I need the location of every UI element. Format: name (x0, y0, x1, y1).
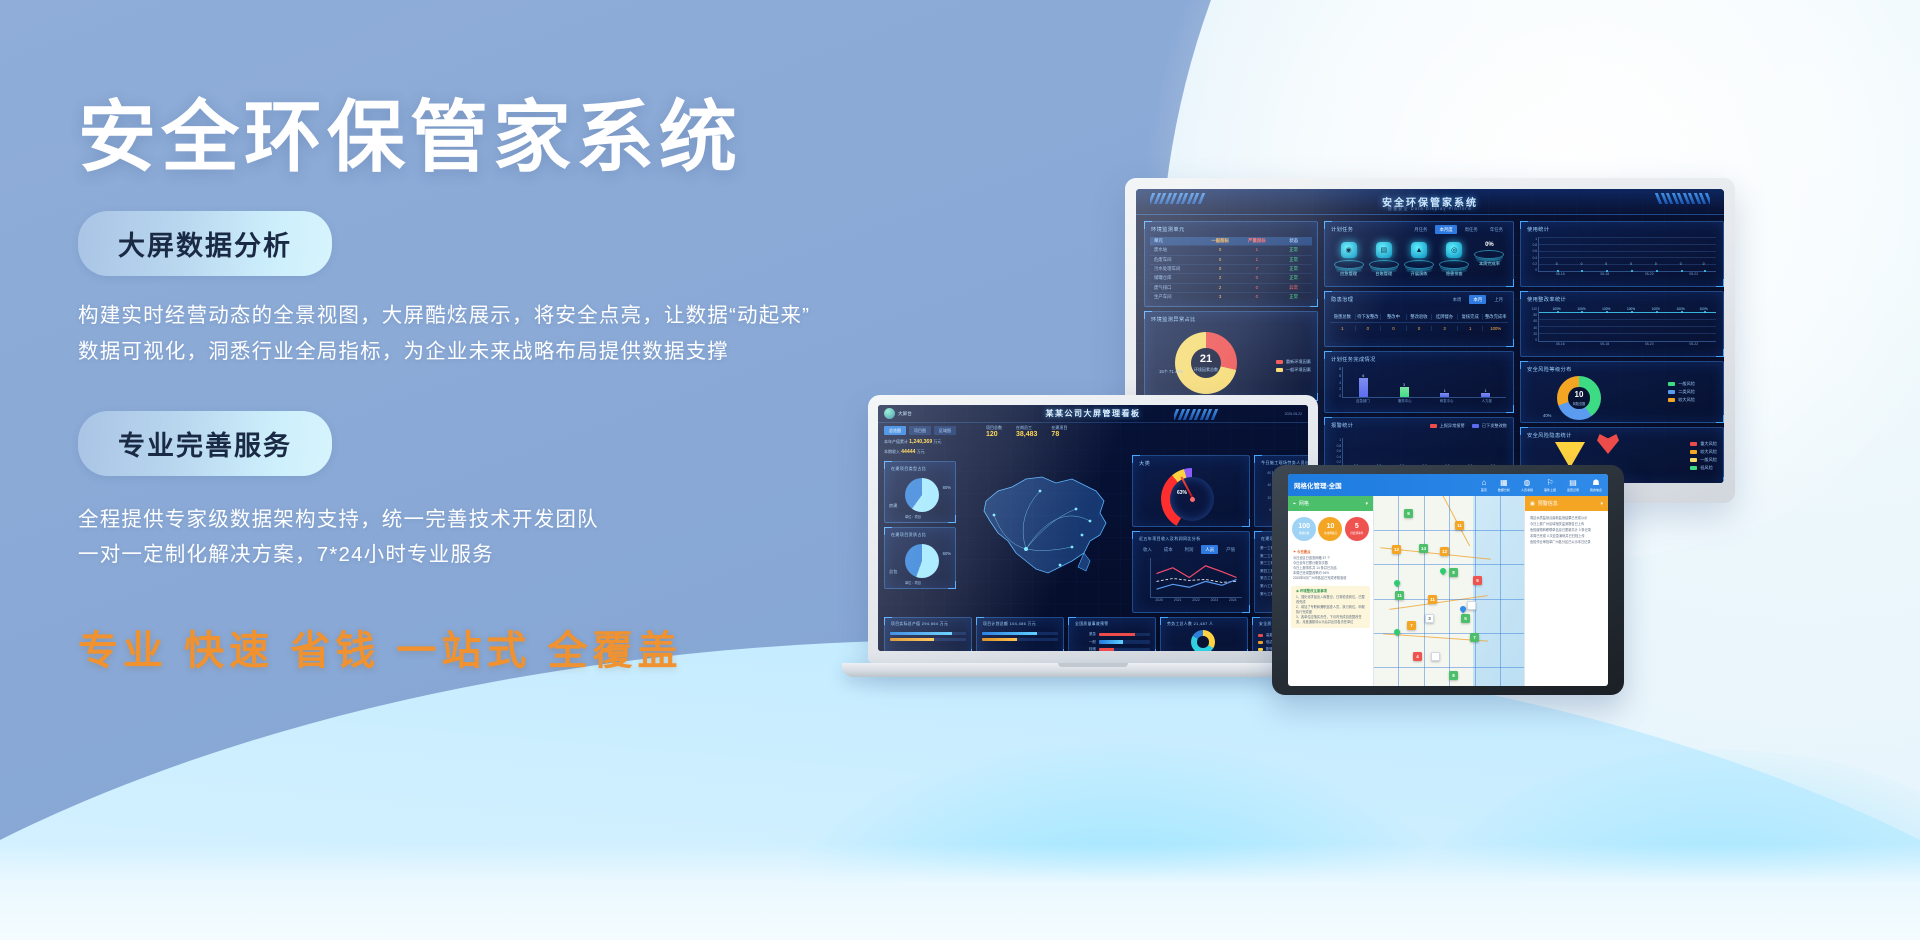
tablet-app-body: ⌖ 网格 ▾ 100 网格总数 10 在线网格员 (1288, 496, 1608, 686)
china-map (964, 457, 1128, 591)
project-qualification-pie-chart (905, 544, 939, 578)
laptop-kpi-row: 项目总数 120 在岗员工 38,483 在建项目 78 (986, 425, 1067, 438)
china-map-svg (964, 457, 1128, 591)
map-sea (1473, 496, 1524, 686)
panel-hidden-danger: 隐患治理 本周 本月 上月 隐患总数 待下发整改 整改中 整改验收 (1324, 291, 1514, 347)
header-deco-left-icon (1150, 193, 1224, 204)
panel-title-bottom-2: 项目计划总额 104,486 万元 (983, 622, 1036, 627)
tablet-left-panel: ⌖ 网格 ▾ 100 网格总数 10 在线网格员 (1288, 496, 1374, 686)
panel-bottom-2: 项目计划总额 104,486 万元 (976, 617, 1064, 651)
table-row: 储罐仓库 2 0 正常 (1150, 273, 1312, 282)
unit-table: 单元 一般超标 严重超标 状态 废水站 0 1 正常 (1150, 237, 1312, 302)
pie-qual-label: 总包 (889, 568, 897, 576)
legend-item: 较大风险 (1668, 396, 1695, 404)
map-marker[interactable]: 11 (1455, 521, 1464, 530)
page-title: 安全环保管家系统 (78, 94, 878, 181)
panel-bottom-3: 全国质量事故预警 紧急 一般 轻微 (1068, 617, 1156, 651)
th-unit: 单元 (1150, 237, 1202, 245)
panel-title-unit-table: 环境监测单元 (1151, 226, 1185, 233)
axis-y: 6040200 (1260, 471, 1271, 512)
alert-list: 周边水质监测点最新监测结果已完成公示 今日上报广州区域相关监测报告已上传 危险废… (1525, 511, 1608, 549)
risk-donut-legend: 一般风险 二类风险 较大风险 (1668, 380, 1695, 404)
paragraph-service: 全程提供专家级数据架构支持，统一完善技术开发团队 一对一定制化解决方案，7*24… (78, 502, 878, 573)
tab-this-month[interactable]: 本月 (1469, 295, 1486, 304)
panel-title-dept-tasks: 计划任务完成情况 (1331, 356, 1376, 363)
risk-level-donut-chart: 10 风险总数 (1557, 376, 1601, 420)
panel-gauge: 大类 63% (1132, 455, 1250, 527)
panel-title-risk-pie: 安全风险隐患统计 (1527, 432, 1572, 439)
badge-online-staff: 10 在线网格员 (1318, 517, 1342, 541)
pie-type-note: 单位：项目 (905, 514, 921, 520)
tablet-app-title: 网格化管理-全国 (1294, 480, 1342, 490)
dept-task-bar-chart: 86420 6 3 1 1 应急部门 (1330, 367, 1508, 407)
kv-header: 隐患总数 待下发整改 整改中 整改验收 挂牌督办 复核完成 整改完成率 (1330, 314, 1508, 323)
axis-y: 86420 (1330, 367, 1341, 398)
risk-pie-legend: 重大风险 较大风险 一般风险 低风险 (1690, 440, 1717, 472)
node-ring-icon (1439, 260, 1469, 269)
grid-map[interactable]: 9 11 12 14 12 8 6 11 11 7 5 7 4 8 (1374, 496, 1524, 686)
tips-panel: ◉ 环境整改注意事项 1、强化化学品出入库登记，日常检查到位，已整改完成 2、增… (1291, 586, 1370, 628)
laptop-lid: 大屏台 某某公司大屏管理看板 2025-05-22 总览图 项目图 区域图 (868, 395, 1318, 663)
tablet-body: 网格化管理-全国 ⌂ 首页 ▦ 数据分析 ◍ 人员考勤 (1272, 465, 1624, 695)
map-marker[interactable]: 5 (1461, 614, 1470, 623)
shield-icon: ◉ (1341, 242, 1357, 258)
progress-gauge (1161, 468, 1223, 530)
axis-y: 1 0.8 0.6 0.4 0.2 0 (1526, 237, 1537, 272)
panel-usage-stats: 使用统计 1 0.8 0.6 0.4 0.2 0 (1520, 221, 1724, 287)
kpi-item: 在建项目 78 (1051, 425, 1067, 438)
panel-title-pie-qual: 在建项目资质占比 (891, 532, 926, 538)
pie-type-label: 房建 (889, 502, 897, 510)
table-row: 废气排口 2 0 异常 (1150, 283, 1312, 292)
hidden-danger-kv: 隐患总数 待下发整改 整改中 整改验收 挂牌督办 复核完成 整改完成率 1 0 (1330, 314, 1508, 331)
user-icon: ◍ (1521, 479, 1533, 487)
map-marker[interactable]: 3 (1425, 614, 1434, 623)
paragraph-analytics: 构建实时经营动态的全景视图，大屏酷炫展示，将安全点亮，让数据“动起来” 数据可视… (78, 298, 878, 369)
header-deco-right-icon (1636, 193, 1710, 204)
badge-big-screen-analytics: 大屏数据分析 (78, 211, 332, 276)
laptop-tabs[interactable]: 总览图 项目图 区域图 (884, 426, 956, 435)
axis-x: 05-16 05-18 05-20 05-22 (1538, 272, 1716, 281)
alert-panel-title: 预警信息 (1538, 500, 1558, 507)
chevron-down-icon: ▾ (1365, 501, 1368, 507)
map-marker[interactable]: 7 (1407, 621, 1416, 630)
nav-item-home[interactable]: ⌂ 首页 (1481, 479, 1487, 492)
tab-last-month[interactable]: 上月 (1490, 295, 1507, 304)
tablet-screen: 网格化管理-全国 ⌂ 首页 ▦ 数据分析 ◍ 人员考勤 (1288, 474, 1608, 686)
pin-icon: ⌖ (1293, 501, 1296, 507)
donut-center-value: 10 (1575, 391, 1584, 399)
task-node[interactable]: ▤ 台账管理 (1366, 242, 1401, 277)
legend-item: 低风险 (1690, 464, 1717, 472)
panel-pie-qual: 在建项目资质占比 60% 总包 单位：项目 (884, 527, 956, 589)
chevron-down-icon: ▾ (1600, 501, 1603, 507)
tab-projects[interactable]: 项目图 (909, 426, 931, 435)
plot-area: 00 00 00 0 (1538, 237, 1716, 272)
tab-month-task[interactable]: 月任务 (1410, 225, 1431, 234)
task-node[interactable]: ◉ 应急管理 (1331, 242, 1366, 277)
panel-bottom-4: 劳务工总人数 21,487 人 (1160, 617, 1248, 651)
laptop-screen: 大屏台 某某公司大屏管理看板 2025-05-22 总览图 项目图 区域图 (878, 405, 1308, 651)
list-item: 危险作业审批单广州各分区已公示本日记录 (1530, 539, 1603, 545)
table-header-row: 单元 一般超标 严重超标 状态 (1150, 237, 1312, 245)
map-marker[interactable]: 8 (1449, 568, 1458, 577)
map-marker[interactable] (1467, 601, 1476, 610)
map-marker[interactable]: 12 (1440, 547, 1449, 556)
kv-values: 1 0 0 0 3 1 100% (1330, 323, 1508, 331)
heart-icon (1597, 434, 1619, 454)
dashboard-subtitle: 智慧安全 Data Display Platform (1388, 206, 1472, 212)
panel-title-env-donut: 环境监测异常占比 (1151, 316, 1196, 323)
tagline: 专业 快速 省钱 一站式 全覆盖 (78, 618, 878, 676)
laptop-base (842, 663, 1344, 677)
project-type-pie-chart (905, 478, 939, 512)
node-ring-icon (1404, 260, 1434, 269)
legend-item: 二类风险 (1668, 388, 1695, 396)
report-icon: ⚐ (1544, 479, 1556, 487)
node-ring-icon (1334, 260, 1364, 269)
paragraph-analytics-line2: 数据可视化，洞悉行业全局指标，为企业未来战略布局提供数据支撑 (78, 334, 878, 369)
panel-multi-line: 近五年项目收入及利润同比分析 收入 成本 利润 人员 产值 (1132, 531, 1250, 613)
nav-item-report[interactable]: ⚐ 事件上报 (1544, 479, 1556, 492)
panel-title-hidden-danger: 隐患治理 (1331, 296, 1353, 303)
laptop-mockup: 大屏台 某某公司大屏管理看板 2025-05-22 总览图 项目图 区域图 (868, 395, 1318, 677)
tab-cost[interactable]: 成本 (1160, 545, 1177, 554)
map-marker[interactable]: 6 (1473, 576, 1482, 585)
panel-title-risk-donut: 安全风险等级分布 (1527, 366, 1572, 373)
legend-item: 重新环境因素 (1276, 358, 1311, 366)
topbar-deco-icon (1174, 409, 1248, 420)
task-tabs[interactable]: 月任务 本月度 周任务 年任务 (1410, 225, 1507, 234)
kpi-item: 在岗员工 38,483 (1016, 425, 1037, 438)
axis-x: 05-16 05-18 05-20 05-22 (1538, 342, 1716, 351)
table-row: 污水处理车间 0 7 正常 (1150, 264, 1312, 273)
tab-profit[interactable]: 利润 (1181, 545, 1198, 554)
chart-icon: ▦ (1498, 479, 1510, 487)
grid-selector-label: 网格 (1299, 500, 1309, 507)
paragraph-service-line2: 一对一定制化解决方案，7*24小时专业服务 (78, 537, 878, 572)
legend-item: 一般风险 (1668, 380, 1695, 388)
legend-item: 一般环境因素 (1276, 366, 1311, 374)
axis-x: 应急部门 服务中心 研发中心 人力部 (1342, 398, 1506, 407)
panel-title-alarm: 报警统计 (1331, 422, 1353, 429)
topbar-datetime: 2025-05-22 (1285, 412, 1302, 416)
task-node[interactable]: ▲ 开展演练 (1401, 242, 1436, 277)
clipboard-icon: ▤ (1567, 479, 1579, 487)
pie-qual-note: 单位：项目 (905, 580, 921, 586)
axis-y: 120 80 60 40 20 0 (1526, 307, 1537, 342)
today-notes: ⚑ 今日要点 今日全区已巡查网格 57 个 今日全年已累计服务次数 今日上报事件… (1288, 547, 1373, 584)
tab-overview[interactable]: 总览图 (884, 426, 906, 435)
panel-pie-type: 在建项目类型占比 60% 房建 单位：项目 (884, 461, 956, 523)
task-node[interactable]: ◎ 隐患排查 (1437, 242, 1472, 277)
multi-line-series (1151, 558, 1242, 597)
bottom-bars-1 (890, 632, 966, 644)
laptop-trackpad-notch (1058, 663, 1128, 667)
table-row: 危废车间 0 1 正常 (1150, 255, 1312, 264)
gauge-cap (1190, 497, 1195, 502)
tab-income[interactable]: 收入 (1139, 545, 1156, 554)
task-node-row: ◉ 应急管理 ▤ 台账管理 ▲ (1331, 242, 1507, 277)
nav-item-analysis[interactable]: ▦ 数据分析 (1498, 479, 1510, 492)
donut-center-value: 21 (1200, 354, 1212, 365)
legend-item: 较大风险 (1690, 448, 1717, 456)
panel-dept-tasks: 计划任务完成情况 86420 6 3 1 1 (1324, 351, 1514, 413)
pie-qual-value: 60% (943, 550, 951, 558)
background-bottom-fade (0, 844, 1920, 940)
bottom-bars-3: 紧急 一般 轻微 (1074, 632, 1150, 651)
alarm-legend: 上报异常报警 已下发整改数 (1430, 422, 1507, 430)
panel-title-usage: 使用统计 (1527, 226, 1549, 233)
panel-title-gauge: 大类 (1139, 460, 1150, 467)
laptop-stat-1: 本年产值累计 1,240,369 万元 (884, 439, 941, 445)
multi-line-chart: 20202021202220232024 (1138, 558, 1244, 607)
paragraph-service-line1: 全程提供专家级数据架构支持，统一完善技术开发团队 (78, 502, 878, 537)
panel-title-multi-line: 近五年项目收入及利润同比分析 (1139, 536, 1201, 542)
badge-pending-events: 5 待处理事件 (1345, 517, 1369, 541)
tab-people[interactable]: 人员 (1201, 545, 1218, 554)
panel-rate-stats: 使用整改率统计 120 80 60 40 20 0 (1520, 291, 1724, 357)
bar: 1 (1481, 393, 1490, 397)
bar: 1 (1440, 393, 1449, 397)
multi-line-tabs[interactable]: 收入 成本 利润 人员 产值 (1139, 545, 1239, 554)
bottom-bars-2 (982, 632, 1058, 644)
tab-regions[interactable]: 区域图 (934, 426, 956, 435)
marketing-copy: 安全环保管家系统 大屏数据分析 构建实时经营动态的全景视图，大屏酷炫展示，将安全… (78, 94, 878, 676)
panel-title-bottom-4: 劳务工总人数 21,487 人 (1167, 622, 1213, 627)
kpi-item: 项目总数 120 (986, 425, 1002, 438)
alert-icon: ▲ (1411, 242, 1427, 258)
hidden-danger-tabs[interactable]: 本周 本月 上月 (1449, 295, 1507, 304)
panel-risk-donut: 安全风险等级分布 10 风险总数 一般风险 二类风险 较大风险 (1520, 361, 1724, 423)
plot-area (1150, 558, 1242, 598)
tab-week-task[interactable]: 本月度 (1435, 225, 1456, 234)
alert-selector[interactable]: ▣ 预警信息 ▾ (1525, 496, 1608, 511)
nav-item-inspection[interactable]: ▤ 巡查记录 (1567, 479, 1579, 492)
nav-item-attendance[interactable]: ◍ 人员考勤 (1521, 479, 1533, 492)
panel-tasks: 计划任务 月任务 本月度 周任务 年任务 ◉ 应急管理 (1324, 221, 1514, 287)
book-icon: ▤ (1376, 242, 1392, 258)
laptop-topbar: 大屏台 某某公司大屏管理看板 2025-05-22 (878, 405, 1308, 423)
bar: 6 (1359, 378, 1368, 397)
map-marker[interactable] (1431, 652, 1440, 661)
axis-x: 20202021202220232024 (1150, 598, 1242, 607)
node-ring-icon (1474, 250, 1504, 259)
data-points: 100% 100% 100% 100% 100% 100% 100% (1539, 307, 1716, 341)
panel-title-pie-type: 在建项目类型占比 (891, 466, 926, 472)
table-row: 废水站 0 1 正常 (1150, 245, 1312, 254)
th-status: 状态 (1275, 237, 1312, 245)
lock-icon: ▣ (1530, 501, 1535, 507)
pie-type-value: 60% (943, 484, 951, 492)
task-completion: 0% 本周完成率 (1472, 242, 1507, 277)
legend-item: 已下发整改数 (1472, 422, 1507, 430)
th-major: 严重超标 (1239, 237, 1276, 245)
map-marker[interactable]: 11 (1428, 595, 1437, 604)
tab-year-task[interactable]: 年任务 (1486, 225, 1507, 234)
map-marker[interactable]: 9 (1404, 509, 1413, 518)
th-minor: 一般超标 (1202, 237, 1239, 245)
nav-item-profile[interactable]: ☗ 我的信息 (1590, 479, 1602, 492)
grid-selector[interactable]: ⌖ 网格 ▾ (1288, 496, 1373, 511)
rate-line-chart: 120 80 60 40 20 0 (1526, 307, 1718, 351)
legend-item: 一般风险 (1690, 456, 1717, 464)
node-ring-icon (1369, 260, 1399, 269)
panel-title-tasks: 计划任务 (1331, 226, 1353, 233)
map-marker[interactable]: 12 (1392, 545, 1401, 554)
map-marker[interactable]: 7 (1470, 633, 1479, 642)
gauge-value: 63% (1177, 490, 1187, 496)
search-icon: ◎ (1446, 242, 1462, 258)
panel-unit-table: 环境监测单元 单元 一般超标 严重超标 状态 废水站 0 1 (1144, 221, 1318, 307)
donut-center-label: 风险总数 (1573, 401, 1586, 406)
usage-line-chart: 1 0.8 0.6 0.4 0.2 0 (1526, 237, 1718, 281)
badge-total-grids: 100 网格总数 (1292, 517, 1316, 541)
legend-item: 重大风险 (1690, 440, 1717, 448)
panel-env-donut: 环境监测异常占比 21 环境因素总数 15个 71.43% 重新环境因素 (1144, 311, 1318, 401)
labor-donut-chart (1191, 630, 1215, 651)
legend-item: 上报异常报警 (1430, 422, 1465, 430)
donut-center: 21 环境因素总数 (1191, 348, 1221, 378)
map-marker[interactable]: 4 (1413, 652, 1422, 661)
device-mockups: 安全环保管家系统 智慧安全 Data Display Platform 环境监测… (900, 150, 1910, 850)
environment-donut-chart: 21 环境因素总数 (1175, 332, 1237, 394)
panel-title-rate: 使用整改率统计 (1527, 296, 1566, 303)
profile-icon: ☗ (1590, 479, 1602, 487)
tab-this-week[interactable]: 本周 (1449, 295, 1466, 304)
table-row: 生产车间 3 0 正常 (1150, 292, 1312, 301)
map-marker[interactable]: 11 (1395, 591, 1404, 600)
risk-donut-sub: 40% (1543, 412, 1551, 420)
tab-output[interactable]: 产值 (1222, 545, 1239, 554)
tablet-right-panel: ▣ 预警信息 ▾ 周边水质监测点最新监测结果已完成公示 今日上报广州区域相关监测… (1524, 496, 1608, 686)
completion-value: 0% (1472, 242, 1507, 248)
tablet-mockup: 网格化管理-全国 ⌂ 首页 ▦ 数据分析 ◍ 人员考勤 (1272, 465, 1624, 695)
laptop-stat-2: 本期收入 44444 万元 (884, 449, 925, 455)
tablet-app-header: 网格化管理-全国 ⌂ 首页 ▦ 数据分析 ◍ 人员考勤 (1288, 474, 1608, 496)
bar-group: 6 3 1 1 (1343, 367, 1506, 397)
donut-center-label: 环境因素总数 (1194, 367, 1218, 373)
plot-area: 100% 100% 100% 100% 100% 100% 100% (1538, 307, 1716, 342)
panel-bottom-1: 项目实际总产值 294,664 万元 (884, 617, 972, 651)
bar: 3 (1400, 387, 1409, 397)
tab-quarter-task[interactable]: 周任务 (1461, 225, 1482, 234)
badge-professional-service: 专业完善服务 (78, 411, 332, 476)
dashboard-header: 安全环保管家系统 智慧安全 Data Display Platform (1136, 189, 1724, 215)
home-icon: ⌂ (1481, 479, 1487, 487)
map-marker[interactable]: 14 (1419, 544, 1428, 553)
panel-title-bottom-3: 全国质量事故预警 (1075, 622, 1109, 627)
laptop-dashboard: 大屏台 某某公司大屏管理看板 2025-05-22 总览图 项目图 区域图 (878, 405, 1308, 651)
panel-title-bottom-1: 项目实际总产值 294,664 万元 (891, 622, 948, 627)
data-points: 00 00 00 0 (1539, 237, 1716, 271)
donut-legend: 重新环境因素 一般环境因素 (1276, 358, 1311, 374)
plot-area: 6 3 1 1 (1342, 367, 1506, 398)
tablet-nav[interactable]: ⌂ 首页 ▦ 数据分析 ◍ 人员考勤 ⚐ 事件上 (1481, 479, 1602, 492)
donut-center: 10 风险总数 (1568, 387, 1589, 408)
map-marker[interactable]: 8 (1449, 671, 1458, 680)
paragraph-analytics-line1: 构建实时经营动态的全景视图，大屏酷炫展示，将安全点亮，让数据“动起来” (78, 298, 878, 333)
donut-callout: 15个 71.43% (1159, 368, 1183, 376)
stat-badges: 100 网格总数 10 在线网格员 5 待处理事件 (1288, 511, 1373, 547)
